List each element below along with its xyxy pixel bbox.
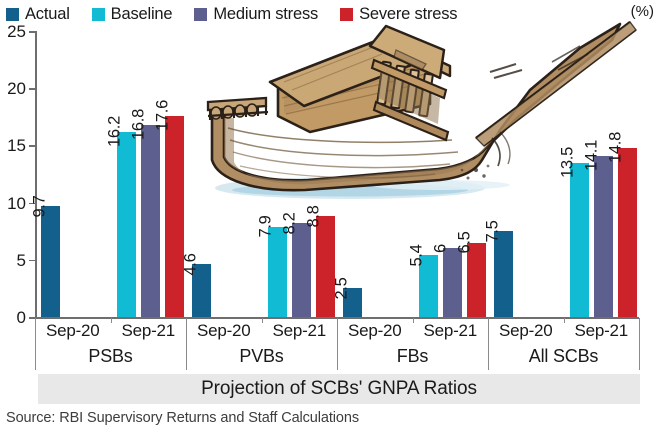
bar: 4.6 — [192, 264, 211, 317]
x-axis-period-label: Sep-20 — [186, 318, 262, 343]
y-axis-tick-label: 20 — [0, 80, 26, 97]
x-axis-period-label: Sep-20 — [488, 318, 564, 343]
x-axis-tick — [111, 318, 112, 323]
y-axis-tick-label: 25 — [0, 23, 26, 40]
unit-label: (%) — [631, 3, 654, 20]
legend-label: Severe stress — [359, 5, 457, 24]
x-axis-group-label: PVBs — [186, 343, 337, 370]
bar-value-label: 6 — [433, 244, 453, 253]
legend-item-baseline: Baseline — [92, 5, 173, 24]
y-axis-tick — [29, 88, 36, 90]
x-axis-period-label: Sep-20 — [337, 318, 413, 343]
bar-value-label: 7.5 — [484, 220, 504, 242]
x-axis-period-label: Sep-21 — [564, 318, 640, 343]
bar-value-label: 8.8 — [306, 205, 326, 227]
chart-legend: Actual Baseline Medium stress Severe str… — [6, 2, 654, 26]
bar-value-label: 6.5 — [457, 232, 477, 254]
bar: 5.4 — [419, 255, 438, 317]
x-axis-group-separator — [488, 318, 489, 370]
y-axis-tick-label: 10 — [0, 195, 26, 212]
bar-value-label: 16.8 — [131, 109, 151, 140]
x-axis-period-label: Sep-20 — [35, 318, 111, 343]
bar: 7.9 — [268, 227, 287, 317]
bar: 16.8 — [141, 125, 160, 317]
chart-title-band: Projection of SCBs' GNPA Ratios — [38, 374, 640, 404]
square-swatch-icon — [92, 8, 105, 21]
bar-value-label: 8.2 — [282, 212, 302, 234]
bar: 8.8 — [316, 216, 335, 317]
bar: 6.5 — [467, 243, 486, 317]
x-axis-tick — [413, 318, 414, 323]
bar: 14.1 — [594, 156, 613, 317]
bar: 13.5 — [570, 163, 589, 317]
chart-plot-area: 0510152025 9.716.216.817.64.67.98.28.82.… — [0, 26, 660, 326]
bar-value-label: 9.7 — [31, 195, 51, 217]
x-axis-group-label: All SCBs — [488, 343, 639, 370]
x-axis-group-label: FBs — [337, 343, 488, 370]
y-axis-tick-label: 15 — [0, 137, 26, 154]
x-axis-period-label: Sep-21 — [262, 318, 338, 343]
bar-value-label: 2.5 — [333, 277, 353, 299]
x-axis-group-label: PSBs — [35, 343, 186, 370]
bar: 16.2 — [117, 132, 136, 317]
bar-value-label: 4.6 — [182, 253, 202, 275]
x-axis-group-separator — [639, 318, 640, 370]
bar-value-label: 17.6 — [155, 100, 175, 131]
y-axis-tick-label: 5 — [0, 252, 26, 269]
x-axis-group-separator — [186, 318, 187, 370]
y-axis-tick — [29, 145, 36, 147]
legend-item-actual: Actual — [6, 5, 70, 24]
y-axis-tick — [29, 31, 36, 33]
x-axis-group-separator — [337, 318, 338, 370]
y-axis-tick-label: 0 — [0, 309, 26, 326]
page-title: Projection of SCBs' GNPA Ratios — [201, 378, 477, 400]
bar-value-label: 14.8 — [608, 132, 628, 163]
x-axis-period-label: Sep-21 — [111, 318, 187, 343]
bar: 2.5 — [343, 288, 362, 317]
square-swatch-icon — [194, 8, 207, 21]
x-axis-tick — [564, 318, 565, 323]
square-swatch-icon — [340, 8, 353, 21]
square-swatch-icon — [6, 8, 19, 21]
legend-item-severe-stress: Severe stress — [340, 5, 457, 24]
bar-value-label: 13.5 — [560, 147, 580, 178]
legend-label: Actual — [25, 5, 70, 24]
x-axis-group-separator — [35, 318, 36, 370]
bar: 7.5 — [494, 231, 513, 317]
legend-label: Baseline — [111, 5, 173, 24]
bar: 6 — [443, 248, 462, 317]
x-axis-labels: Sep-20Sep-21PSBsSep-20Sep-21PVBsSep-20Se… — [35, 318, 639, 370]
x-axis-tick — [262, 318, 263, 323]
legend-label: Medium stress — [213, 5, 318, 24]
bar-value-label: 14.1 — [584, 140, 604, 171]
bar-value-label: 5.4 — [409, 244, 429, 266]
source-note: Source: RBI Supervisory Returns and Staf… — [6, 410, 359, 426]
legend-item-medium-stress: Medium stress — [194, 5, 318, 24]
bar: 9.7 — [41, 206, 60, 317]
x-axis-period-label: Sep-21 — [413, 318, 489, 343]
bar: 14.8 — [618, 148, 637, 317]
bar: 17.6 — [165, 116, 184, 317]
bar: 8.2 — [292, 223, 311, 317]
y-axis-line — [35, 31, 37, 318]
bar-value-label: 16.2 — [107, 116, 127, 147]
y-axis-tick — [29, 260, 36, 262]
bar-value-label: 7.9 — [258, 216, 278, 238]
